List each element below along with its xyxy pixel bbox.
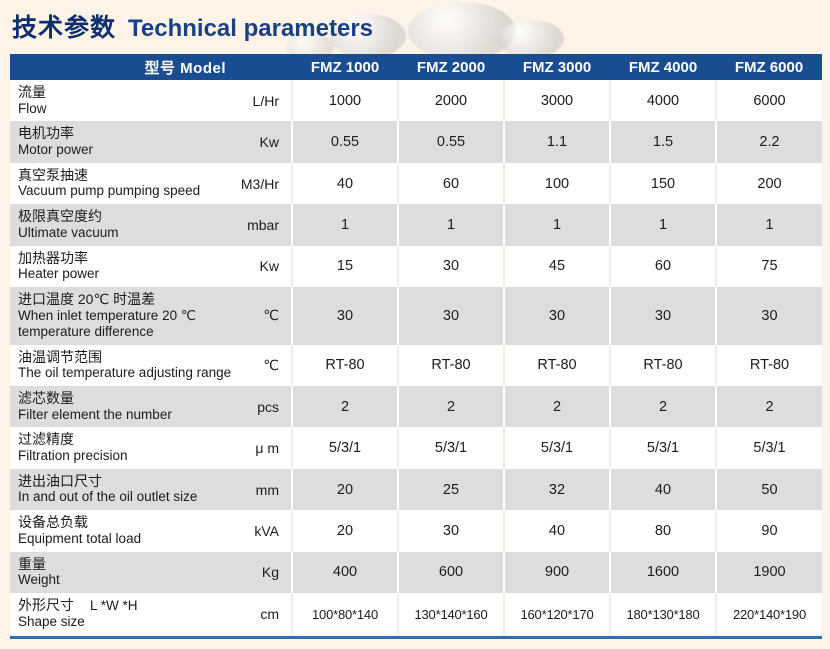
technical-parameters-table: 型号 Model FMZ 1000 FMZ 2000 FMZ 3000 FMZ … <box>10 54 822 635</box>
cell-value: 0.55 <box>398 121 504 162</box>
row-label-chinese: 设备总负载 <box>18 514 222 531</box>
row-label-chinese: 进口温度 20℃ 时温差 <box>18 291 222 308</box>
table-row: 流量FlowL/Hr10002000300040006000 <box>10 80 822 121</box>
cell-value: 40 <box>292 163 398 204</box>
row-label-suffix: L *W *H <box>74 598 138 613</box>
page-title-english: Technical parameters <box>128 15 373 43</box>
column-header-fmz-2000: FMZ 2000 <box>398 54 504 80</box>
row-label-english: Filtration precision <box>18 448 222 464</box>
cell-value: 90 <box>716 510 822 551</box>
row-unit: ℃ <box>228 287 292 344</box>
row-unit: kVA <box>228 510 292 551</box>
table-row: 极限真空度约Ultimate vacuummbar11111 <box>10 204 822 245</box>
row-unit: Kg <box>228 552 292 593</box>
column-header-fmz-3000: FMZ 3000 <box>504 54 610 80</box>
table-body: 流量FlowL/Hr10002000300040006000电机功率Motor … <box>10 80 822 635</box>
table-row: 加热器功率Heater powerKw1530456075 <box>10 246 822 287</box>
row-label-chinese: 进出油口尺寸 <box>18 473 222 490</box>
row-label-english: Equipment total load <box>18 531 222 547</box>
cell-value: RT-80 <box>610 345 716 386</box>
cell-value: 20 <box>292 469 398 510</box>
row-label: 设备总负载Equipment total load <box>10 510 228 551</box>
row-label: 外形尺寸L *W *HShape size <box>10 593 228 635</box>
cell-value: RT-80 <box>716 345 822 386</box>
table-row: 设备总负载Equipment total loadkVA2030408090 <box>10 510 822 551</box>
cell-value: 1000 <box>292 80 398 121</box>
row-label-english: The oil temperature adjusting range <box>18 365 222 381</box>
cell-value: 1 <box>504 204 610 245</box>
row-unit: Kw <box>228 246 292 287</box>
cell-value: 2.2 <box>716 121 822 162</box>
column-header-fmz-6000: FMZ 6000 <box>716 54 822 80</box>
cell-value: 2 <box>398 386 504 427</box>
cell-value: 5/3/1 <box>504 427 610 468</box>
cell-value: 4000 <box>610 80 716 121</box>
spec-table: 型号 Model FMZ 1000 FMZ 2000 FMZ 3000 FMZ … <box>10 54 822 635</box>
row-label-english: Flow <box>18 101 222 117</box>
row-label-english: Motor power <box>18 142 222 158</box>
cell-value: 3000 <box>504 80 610 121</box>
cell-value: 75 <box>716 246 822 287</box>
cell-value: 5/3/1 <box>398 427 504 468</box>
table-row: 外形尺寸L *W *HShape sizecm100*80*140130*140… <box>10 593 822 635</box>
cell-value: 1600 <box>610 552 716 593</box>
table-row: 进口温度 20℃ 时温差When inlet temperature 20 ℃t… <box>10 287 822 344</box>
cell-value: 1.5 <box>610 121 716 162</box>
cell-value: 600 <box>398 552 504 593</box>
row-label: 电机功率Motor power <box>10 121 228 162</box>
header-row: 型号 Model FMZ 1000 FMZ 2000 FMZ 3000 FMZ … <box>10 54 822 80</box>
cell-value: 60 <box>610 246 716 287</box>
row-label: 重量Weight <box>10 552 228 593</box>
row-unit: mbar <box>228 204 292 245</box>
row-label-english: Filter element the number <box>18 407 222 423</box>
cell-value: 30 <box>504 287 610 344</box>
cell-value: 30 <box>610 287 716 344</box>
row-label: 进出油口尺寸In and out of the oil outlet size <box>10 469 228 510</box>
cell-value: 1.1 <box>504 121 610 162</box>
cell-value: 180*130*180 <box>610 593 716 635</box>
row-label: 加热器功率Heater power <box>10 246 228 287</box>
cell-value: 100*80*140 <box>292 593 398 635</box>
cell-value: 6000 <box>716 80 822 121</box>
table-row: 油温调节范围The oil temperature adjusting rang… <box>10 345 822 386</box>
cell-value: 80 <box>610 510 716 551</box>
row-label-chinese: 极限真空度约 <box>18 208 222 225</box>
row-unit: M3/Hr <box>228 163 292 204</box>
row-label: 流量Flow <box>10 80 228 121</box>
cell-value: 45 <box>504 246 610 287</box>
cell-value: 20 <box>292 510 398 551</box>
cell-value: 5/3/1 <box>716 427 822 468</box>
page-title: 技术参数 Technical parameters <box>12 8 373 46</box>
cell-value: 100 <box>504 163 610 204</box>
cell-value: 25 <box>398 469 504 510</box>
row-label: 油温调节范围The oil temperature adjusting rang… <box>10 345 228 386</box>
column-header-fmz-4000: FMZ 4000 <box>610 54 716 80</box>
bottom-rule <box>10 636 822 639</box>
column-header-fmz-1000: FMZ 1000 <box>292 54 398 80</box>
cell-value: RT-80 <box>398 345 504 386</box>
row-label-english: Vacuum pump pumping speed <box>18 183 222 199</box>
cell-value: 30 <box>398 510 504 551</box>
cell-value: 1 <box>292 204 398 245</box>
row-label-chinese: 重量 <box>18 556 222 573</box>
cell-value: 400 <box>292 552 398 593</box>
table-header: 型号 Model FMZ 1000 FMZ 2000 FMZ 3000 FMZ … <box>10 54 822 80</box>
row-label: 极限真空度约Ultimate vacuum <box>10 204 228 245</box>
cell-value: 2 <box>504 386 610 427</box>
page-title-chinese: 技术参数 <box>12 8 116 44</box>
cell-value: 2 <box>610 386 716 427</box>
cell-value: 30 <box>292 287 398 344</box>
row-label-english: In and out of the oil outlet size <box>18 489 222 505</box>
cell-value: 32 <box>504 469 610 510</box>
cell-value: 0.55 <box>292 121 398 162</box>
cell-value: 30 <box>398 246 504 287</box>
cell-value: 60 <box>398 163 504 204</box>
row-label: 进口温度 20℃ 时温差When inlet temperature 20 ℃t… <box>10 287 228 344</box>
cell-value: 30 <box>398 287 504 344</box>
row-label-english: When inlet temperature 20 ℃ <box>18 308 222 324</box>
cell-value: 900 <box>504 552 610 593</box>
row-label-chinese: 流量 <box>18 84 222 101</box>
cell-value: 160*120*170 <box>504 593 610 635</box>
table-row: 过滤精度Filtration precisionμ m5/3/15/3/15/3… <box>10 427 822 468</box>
row-unit: μ m <box>228 427 292 468</box>
row-label-chinese: 电机功率 <box>18 125 222 142</box>
cell-value: 2000 <box>398 80 504 121</box>
row-unit: Kw <box>228 121 292 162</box>
row-label: 过滤精度Filtration precision <box>10 427 228 468</box>
row-label-chinese: 过滤精度 <box>18 431 222 448</box>
table-row: 重量WeightKg40060090016001900 <box>10 552 822 593</box>
row-label-english: Shape size <box>18 614 222 630</box>
row-unit: pcs <box>228 386 292 427</box>
row-label-english: Ultimate vacuum <box>18 225 222 241</box>
cell-value: 40 <box>504 510 610 551</box>
row-label-chinese: 外形尺寸L *W *H <box>18 597 222 614</box>
row-label-chinese: 加热器功率 <box>18 250 222 267</box>
cell-value: 40 <box>610 469 716 510</box>
cell-value: 2 <box>716 386 822 427</box>
column-header-model: 型号 Model <box>10 54 292 80</box>
table-row: 真空泵抽速Vacuum pump pumping speedM3/Hr40601… <box>10 163 822 204</box>
row-unit: mm <box>228 469 292 510</box>
row-label-chinese: 油温调节范围 <box>18 349 222 366</box>
row-unit: L/Hr <box>228 80 292 121</box>
cell-value: 5/3/1 <box>292 427 398 468</box>
cell-value: RT-80 <box>504 345 610 386</box>
cell-value: 200 <box>716 163 822 204</box>
row-label-chinese: 滤芯数量 <box>18 390 222 407</box>
cell-value: 5/3/1 <box>610 427 716 468</box>
table-row: 电机功率Motor powerKw0.550.551.11.52.2 <box>10 121 822 162</box>
row-label: 滤芯数量Filter element the number <box>10 386 228 427</box>
cell-value: 1900 <box>716 552 822 593</box>
row-label-english-line2: temperature difference <box>18 324 222 340</box>
table-row: 进出油口尺寸In and out of the oil outlet sizem… <box>10 469 822 510</box>
row-label-english: Heater power <box>18 266 222 282</box>
cell-value: 1 <box>398 204 504 245</box>
cell-value: 1 <box>610 204 716 245</box>
row-unit: ℃ <box>228 345 292 386</box>
cell-value: 15 <box>292 246 398 287</box>
cell-value: 30 <box>716 287 822 344</box>
cell-value: 1 <box>716 204 822 245</box>
cell-value: RT-80 <box>292 345 398 386</box>
cell-value: 220*140*190 <box>716 593 822 635</box>
cell-value: 130*140*160 <box>398 593 504 635</box>
table-row: 滤芯数量Filter element the numberpcs22222 <box>10 386 822 427</box>
row-label: 真空泵抽速Vacuum pump pumping speed <box>10 163 228 204</box>
row-label-english: Weight <box>18 572 222 588</box>
row-label-chinese: 真空泵抽速 <box>18 167 222 184</box>
cell-value: 150 <box>610 163 716 204</box>
cell-value: 2 <box>292 386 398 427</box>
row-unit: cm <box>228 593 292 635</box>
cell-value: 50 <box>716 469 822 510</box>
